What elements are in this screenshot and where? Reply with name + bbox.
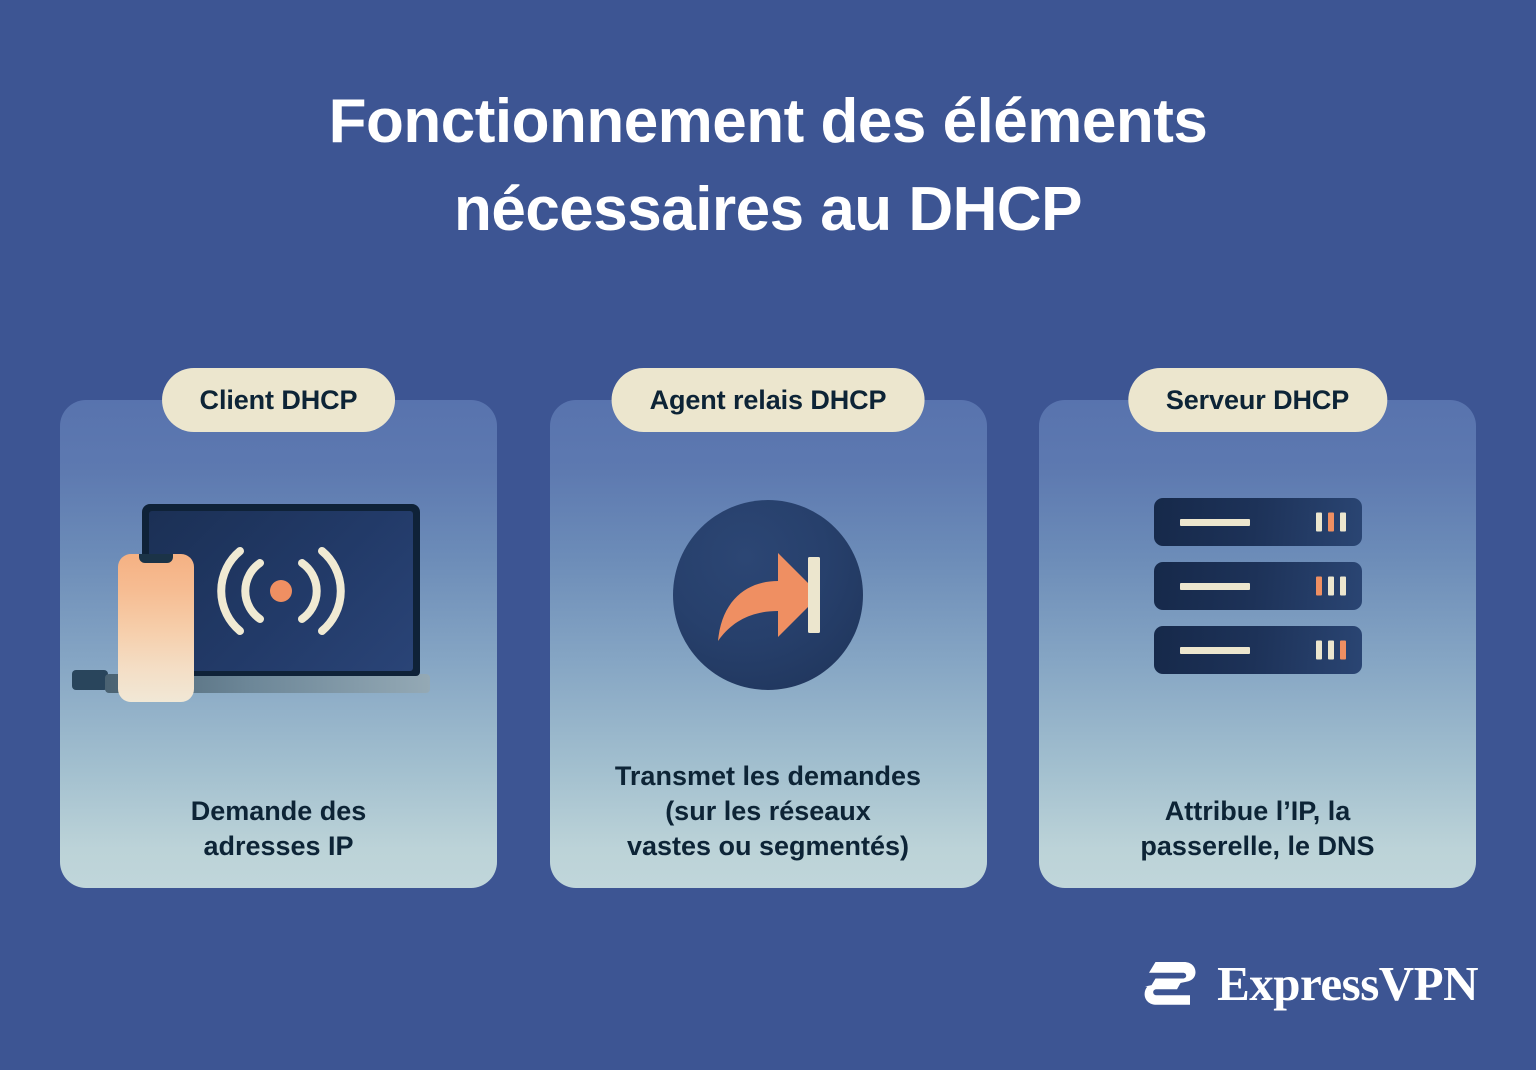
expressvpn-e-logo-icon — [1139, 952, 1201, 1014]
smartphone-icon — [118, 554, 194, 702]
card-caption-agent-relais-dhcp: Transmet les demandes (sur les réseaux v… — [550, 759, 987, 864]
expressvpn-wordmark: ExpressVPN — [1217, 955, 1478, 1012]
server-tick — [1328, 641, 1334, 660]
server-indicator-lights — [1316, 577, 1346, 596]
page-title-line-2: nécessaires au DHCP — [454, 175, 1082, 244]
card-pill-label: Client DHCP — [200, 385, 358, 416]
card-pill-label: Serveur DHCP — [1166, 385, 1349, 416]
phone-notch-icon — [139, 554, 173, 563]
server-label-bar — [1180, 647, 1250, 654]
server-tick-active — [1340, 641, 1346, 660]
card-caption-line-2: passerelle, le DNS — [1059, 829, 1456, 864]
laptop-foot-icon — [72, 670, 108, 690]
curved-forward-arrow-icon — [708, 541, 828, 649]
card-caption-client-dhcp: Demande des adresses IP — [60, 794, 497, 864]
card-pill-client-dhcp: Client DHCP — [162, 368, 396, 432]
server-label-bar — [1180, 583, 1250, 590]
card-caption-line-1: Attribue l’IP, la — [1059, 794, 1456, 829]
card-caption-line-1: Transmet les demandes — [570, 759, 967, 794]
forward-arrow-icon — [550, 492, 987, 722]
server-tick-active — [1316, 577, 1322, 596]
card-client-dhcp: Client DHCP — [60, 400, 497, 888]
page-title-line-1: Fonctionnement des éléments — [329, 87, 1208, 156]
server-tick — [1316, 641, 1322, 660]
card-pill-serveur-dhcp: Serveur DHCP — [1128, 368, 1387, 432]
server-tick — [1328, 577, 1334, 596]
server-indicator-lights — [1316, 641, 1346, 660]
server-label-bar — [1180, 519, 1250, 526]
server-tick — [1316, 513, 1322, 532]
card-caption-serveur-dhcp: Attribue l’IP, la passerelle, le DNS — [1039, 794, 1476, 864]
card-pill-agent-relais-dhcp: Agent relais DHCP — [612, 368, 925, 432]
page-title: Fonctionnement des éléments nécessaires … — [0, 78, 1536, 254]
server-rack-3 — [1154, 626, 1362, 674]
server-rack-1 — [1154, 498, 1362, 546]
card-agent-relais-dhcp: Agent relais DHCP Transmet les demandes … — [550, 400, 987, 888]
card-caption-line-3: vastes ou segmentés) — [570, 829, 967, 864]
server-stack-icon — [1039, 492, 1476, 722]
server-tick-active — [1328, 513, 1334, 532]
server-indicator-lights — [1316, 513, 1346, 532]
card-serveur-dhcp: Serveur DHCP — [1039, 400, 1476, 888]
card-pill-label: Agent relais DHCP — [650, 385, 887, 416]
relay-circle-background — [673, 500, 863, 690]
cards-row: Client DHCP — [60, 400, 1476, 890]
server-tick — [1340, 577, 1346, 596]
laptop-phone-wireless-icon — [60, 492, 497, 722]
expressvpn-logo: ExpressVPN — [1139, 952, 1478, 1014]
server-rack-2 — [1154, 562, 1362, 610]
wireless-signal-icon — [216, 543, 346, 639]
card-caption-line-1: Demande des — [80, 794, 477, 829]
card-caption-line-2: adresses IP — [80, 829, 477, 864]
card-caption-line-2: (sur les réseaux — [570, 794, 967, 829]
server-tick — [1340, 513, 1346, 532]
